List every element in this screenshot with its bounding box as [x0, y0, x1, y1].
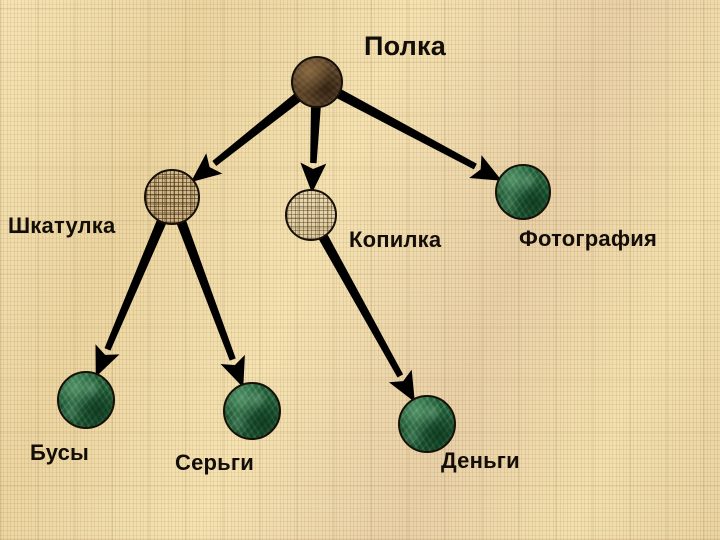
label-layer: ПолкаШкатулкаКопилкаФотографияБусыСерьги… — [0, 0, 720, 540]
node-label-shkatulka: Шкатулка — [8, 215, 115, 237]
node-label-kopilka: Копилка — [349, 229, 441, 251]
diagram-canvas: ПолкаШкатулкаКопилкаФотографияБусыСерьги… — [0, 0, 720, 540]
node-label-busy: Бусы — [30, 442, 89, 464]
node-label-fotografiya: Фотография — [519, 228, 657, 250]
node-label-sergi: Серьги — [175, 452, 254, 474]
node-label-dengi: Деньги — [441, 450, 520, 472]
node-label-polka: Полка — [364, 33, 446, 60]
